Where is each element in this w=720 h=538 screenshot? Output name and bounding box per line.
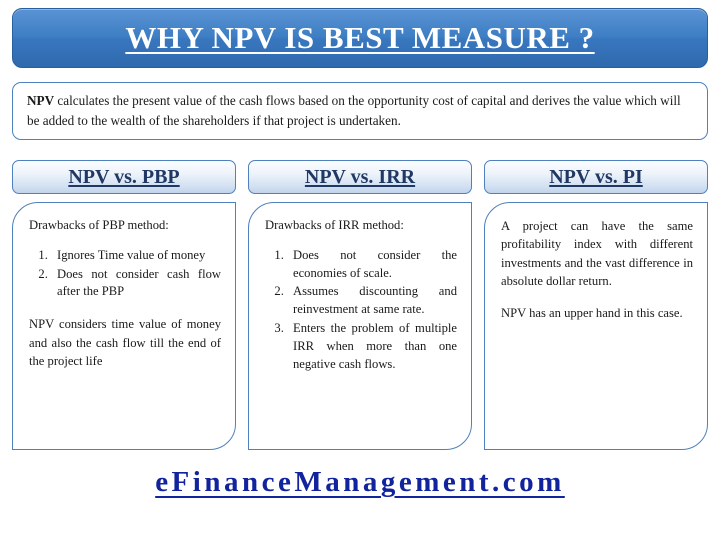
content-box-pi: A project can have the same profitabilit… xyxy=(484,202,708,450)
tab-npv-vs-pbp[interactable]: NPV vs. PBP xyxy=(12,160,236,194)
title-banner: WHY NPV IS BEST MEASURE ? xyxy=(12,8,708,68)
comparison-column-irr: NPV vs. IRR Drawbacks of IRR method: Doe… xyxy=(248,160,472,450)
content-box-pbp: Drawbacks of PBP method: Ignores Time va… xyxy=(12,202,236,450)
content-box-irr: Drawbacks of IRR method: Does not consid… xyxy=(248,202,472,450)
tab-npv-vs-irr[interactable]: NPV vs. IRR xyxy=(248,160,472,194)
list-item: Ignores Time value of money xyxy=(51,247,221,265)
tab-label: NPV vs. PI xyxy=(549,166,643,189)
comparison-column-pbp: NPV vs. PBP Drawbacks of PBP method: Ign… xyxy=(12,160,236,450)
drawbacks-list: Does not consider the economies of scale… xyxy=(265,247,457,374)
comparison-columns: NPV vs. PBP Drawbacks of PBP method: Ign… xyxy=(12,160,708,450)
list-item: Does not consider cash flow after the PB… xyxy=(51,266,221,302)
description-lead-term: NPV xyxy=(27,93,54,108)
description-body: calculates the present value of the cash… xyxy=(27,93,681,128)
page-title: WHY NPV IS BEST MEASURE ? xyxy=(125,20,594,56)
description-box: NPV calculates the present value of the … xyxy=(12,82,708,140)
list-item: Enters the problem of multiple IRR when … xyxy=(287,320,457,374)
content-paragraph: NPV has an upper hand in this case. xyxy=(501,304,693,322)
content-lead: Drawbacks of PBP method: xyxy=(29,217,221,235)
tab-label: NPV vs. IRR xyxy=(305,166,415,189)
tab-label: NPV vs. PBP xyxy=(68,166,179,189)
tab-npv-vs-pi[interactable]: NPV vs. PI xyxy=(484,160,708,194)
content-conclusion: NPV considers time value of money and al… xyxy=(29,315,221,370)
brand-wordmark[interactable]: eFinanceManagement.com xyxy=(155,466,565,499)
list-item: Does not consider the economies of scale… xyxy=(287,247,457,283)
description-text: NPV calculates the present value of the … xyxy=(27,91,695,132)
drawbacks-list: Ignores Time value of money Does not con… xyxy=(29,247,221,302)
footer: eFinanceManagement.com xyxy=(0,466,720,499)
comparison-column-pi: NPV vs. PI A project can have the same p… xyxy=(484,160,708,450)
list-item: Assumes discounting and reinvestment at … xyxy=(287,283,457,319)
content-lead: Drawbacks of IRR method: xyxy=(265,217,457,235)
content-paragraph: A project can have the same profitabilit… xyxy=(501,217,693,290)
